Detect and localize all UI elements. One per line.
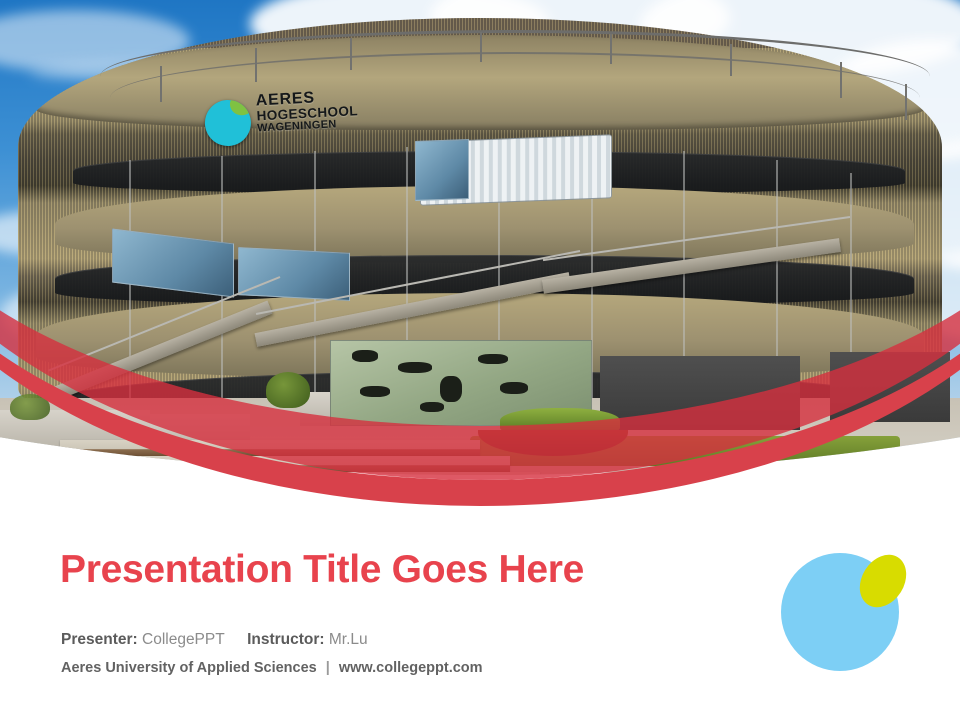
presenter-value: CollegePPT [142,631,224,648]
glass-decoration [398,362,432,373]
plaza-step [60,440,480,456]
handrail-post [730,44,732,76]
facade-dark-panel [830,352,950,422]
instructor-label: Instructor: [247,631,325,648]
building-sign: AERES HOGESCHOOL WAGENINGEN [203,88,366,158]
plaza-step [40,456,510,472]
presentation-slide: AERES HOGESCHOOL WAGENINGEN [0,0,960,720]
handrail-post [160,66,162,102]
hero-banner: AERES HOGESCHOOL WAGENINGEN [0,0,960,500]
glass-decoration [352,350,378,362]
aeres-logo [772,539,918,685]
glass-decoration [360,386,390,397]
glass-decoration [478,354,508,364]
window-mullion [129,160,131,427]
presenter-line: Presenter: CollegePPT Instructor: Mr.Lu [61,631,368,649]
handrail-post [255,48,257,82]
facade-dark-panel [600,356,800,430]
instructor-value: Mr.Lu [329,631,368,648]
aeres-logo-svg [772,539,918,685]
building-sign-text: AERES HOGESCHOOL WAGENINGEN [255,88,359,135]
blue-glass-window [238,247,350,301]
glass-decoration [500,382,528,394]
blue-glass-window [415,139,469,201]
shrub [10,394,50,420]
organization-name: Aeres University of Applied Sciences [61,660,317,676]
building-photograph: AERES HOGESCHOOL WAGENINGEN [0,0,960,500]
page-title: Presentation Title Goes Here [60,548,584,592]
plaza-step [0,488,580,500]
handrail-post [905,84,907,120]
text-separator: | [321,660,335,676]
sign-line-3: WAGENINGEN [257,118,359,135]
ground-plaza [0,398,960,500]
presenter-label: Presenter: [61,631,138,648]
handrail-post [840,62,842,98]
glass-decoration [440,376,462,402]
plaza-step [20,472,540,488]
handrail-post [350,38,352,70]
handrail-post [610,34,612,64]
shrub [266,372,310,408]
website-url[interactable]: www.collegeppt.com [339,660,483,676]
handrail-post [480,32,482,62]
aeres-disc-icon [204,99,252,147]
glass-decoration [420,402,444,412]
organization-line: Aeres University of Applied Sciences | w… [61,660,483,676]
